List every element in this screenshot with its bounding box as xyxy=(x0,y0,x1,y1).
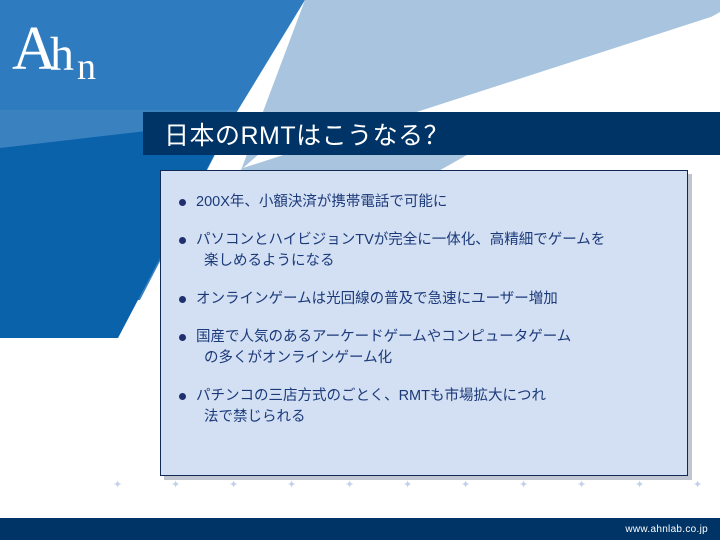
decorative-diamond-icon: ✦ xyxy=(635,481,644,490)
bullet-item: オンラインゲームは光回線の普及で急速にユーザー増加 xyxy=(175,289,673,310)
footer-bar: www.ahnlab.co.jp xyxy=(0,518,720,540)
content-panel: 200X年、小額決済が携帯電話で可能にパソコンとハイビジョンTVが完全に一体化、… xyxy=(160,170,688,476)
decorative-diamond-icon: ✦ xyxy=(577,481,586,490)
page-title: 日本のRMTはこうなる？ xyxy=(143,116,449,152)
bullet-item: パソコンとハイビジョンTVが完全に一体化、高精細でゲームを楽しめるようになる xyxy=(175,230,673,272)
bullet-item: パチンコの三店方式のごとく、RMTも市場拡大につれ法で禁じられる xyxy=(175,386,673,428)
bullet-line: 楽しめるようになる xyxy=(196,251,673,272)
bullet-line: オンラインゲームは光回線の普及で急速にユーザー増加 xyxy=(196,289,673,310)
decorative-diamond-icon: ✦ xyxy=(345,481,354,490)
ahn-logo: A h n xyxy=(8,18,128,90)
logo-glyph-h: h xyxy=(50,31,74,79)
decorative-diamond-icon: ✦ xyxy=(519,481,528,490)
bullet-line: パチンコの三店方式のごとく、RMTも市場拡大につれ xyxy=(196,386,673,407)
decorative-diamond-icon: ✦ xyxy=(113,481,122,490)
presentation-slide: A h n 日本のRMTはこうなる？ 200X年、小額決済が携帯電話で可能にパソ… xyxy=(0,0,720,540)
bullet-line: パソコンとハイビジョンTVが完全に一体化、高精細でゲームを xyxy=(196,230,673,251)
decorative-diamond-icon: ✦ xyxy=(171,481,180,490)
bullet-line: 国産で人気のあるアーケードゲームやコンピュータゲーム xyxy=(196,327,673,348)
decorative-diamond-icon: ✦ xyxy=(403,481,412,490)
bullet-list: 200X年、小額決済が携帯電話で可能にパソコンとハイビジョンTVが完全に一体化、… xyxy=(161,171,687,428)
bullet-line: の多くがオンラインゲーム化 xyxy=(196,348,673,369)
footer-url-label: www.ahnlab.co.jp xyxy=(625,524,720,535)
decorative-diamond-icon: ✦ xyxy=(693,481,702,490)
slide-title-bar: 日本のRMTはこうなる？ xyxy=(143,112,720,155)
decorative-diamond-icon: ✦ xyxy=(461,481,470,490)
logo-glyph-n: n xyxy=(77,48,96,86)
bullet-line: 200X年、小額決済が携帯電話で可能に xyxy=(196,192,673,213)
bullet-line: 法で禁じられる xyxy=(196,407,673,428)
bullet-item: 200X年、小額決済が携帯電話で可能に xyxy=(175,192,673,213)
decorative-diamond-icon: ✦ xyxy=(287,481,296,490)
decorative-diamond-icon: ✦ xyxy=(229,481,238,490)
bullet-item: 国産で人気のあるアーケードゲームやコンピュータゲームの多くがオンラインゲーム化 xyxy=(175,327,673,369)
decorative-dot-row: ✦✦✦✦✦✦✦✦✦✦✦ xyxy=(0,481,720,495)
